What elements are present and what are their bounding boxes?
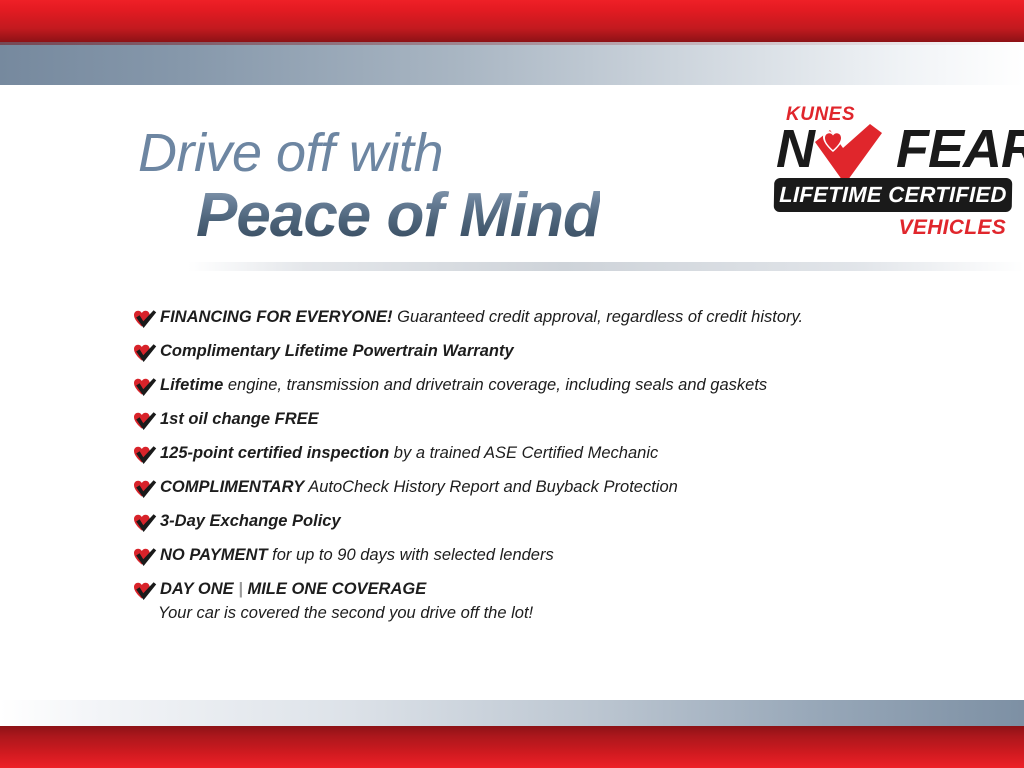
benefit-separator: | — [234, 580, 248, 598]
benefit-body: 125-point certified inspection by a trai… — [158, 442, 658, 464]
benefit-bold-text: DAY ONE — [160, 580, 234, 598]
heart-check-bullet — [132, 512, 158, 534]
heart-check-bullet — [132, 444, 158, 466]
heart-check-bullet-icon — [132, 546, 158, 568]
benefit-body: DAY ONE | MILE ONE COVERAGEYour car is c… — [158, 578, 533, 625]
benefit-body: Complimentary Lifetime Powertrain Warran… — [158, 340, 514, 362]
benefit-item: 125-point certified inspection by a trai… — [132, 442, 932, 466]
heart-check-bullet-icon — [132, 580, 158, 602]
kunes-no-fear-logo: KUNES NOOFEAR LIFETIME CERTIFIED VEHICLE… — [770, 104, 1014, 250]
benefit-regular-text: for up to 90 days with selected lenders — [268, 546, 554, 564]
benefit-bold-text-2: MILE ONE COVERAGE — [247, 580, 426, 598]
benefit-regular-text: Guaranteed credit approval, regardless o… — [393, 308, 804, 326]
benefit-body: NO PAYMENT for up to 90 days with select… — [158, 544, 554, 566]
benefit-bold-text: Complimentary Lifetime Powertrain Warran… — [160, 342, 514, 360]
benefit-regular-text: AutoCheck History Report and Buyback Pro… — [304, 478, 678, 496]
benefit-text: FINANCING FOR EVERYONE! Guaranteed credi… — [158, 306, 803, 328]
bottom-gray-banner — [0, 700, 1024, 726]
heart-check-bullet-icon — [132, 410, 158, 432]
headline-line-1: Drive off with — [138, 126, 600, 181]
logo-certified-bar: LIFETIME CERTIFIED — [774, 178, 1013, 212]
benefit-body: 1st oil change FREE — [158, 408, 319, 430]
benefit-bold-text: COMPLIMENTARY — [160, 478, 304, 496]
logo-word-fear: FEAR — [896, 119, 1024, 179]
benefit-text: 3-Day Exchange Policy — [158, 510, 341, 532]
benefit-item: FINANCING FOR EVERYONE! Guaranteed credi… — [132, 306, 932, 330]
heart-check-bullet — [132, 342, 158, 364]
heart-check-bullet — [132, 580, 158, 602]
headline: Drive off with Peace of Mind — [138, 126, 600, 248]
benefit-item: DAY ONE | MILE ONE COVERAGEYour car is c… — [132, 578, 932, 625]
headline-divider — [188, 262, 1024, 271]
heart-check-bullet-icon — [132, 376, 158, 398]
headline-line-2: Peace of Mind — [196, 183, 600, 248]
benefit-text: 1st oil change FREE — [158, 408, 319, 430]
benefit-bold-text: FINANCING FOR EVERYONE! — [160, 308, 393, 326]
benefits-list: FINANCING FOR EVERYONE! Guaranteed credi… — [132, 306, 932, 635]
logo-certified-text: LIFETIME CERTIFIED — [774, 178, 1013, 212]
heart-check-bullet — [132, 376, 158, 398]
benefit-body: 3-Day Exchange Policy — [158, 510, 341, 532]
heart-check-bullet-icon — [132, 512, 158, 534]
logo-vehicles-text: VEHICLES — [899, 216, 1006, 240]
benefit-text: 125-point certified inspection by a trai… — [158, 442, 658, 464]
benefit-bold-text: Lifetime — [160, 376, 223, 394]
bottom-red-banner — [0, 726, 1024, 768]
benefit-text: DAY ONE | MILE ONE COVERAGE — [158, 578, 533, 600]
benefit-regular-text: by a trained ASE Certified Mechanic — [389, 444, 658, 462]
benefit-bold-text: 1st oil change FREE — [160, 410, 319, 428]
benefit-body: Lifetime engine, transmission and drivet… — [158, 374, 767, 396]
benefit-body: COMPLIMENTARY AutoCheck History Report a… — [158, 476, 678, 498]
benefit-bold-text: 125-point certified inspection — [160, 444, 389, 462]
benefit-regular-text: engine, transmission and drivetrain cove… — [223, 376, 767, 394]
top-gray-banner — [0, 42, 1024, 85]
benefit-text: NO PAYMENT for up to 90 days with select… — [158, 544, 554, 566]
heart-check-bullet — [132, 410, 158, 432]
benefit-text: Complimentary Lifetime Powertrain Warran… — [158, 340, 514, 362]
benefit-text: Lifetime engine, transmission and drivet… — [158, 374, 767, 396]
benefit-item: COMPLIMENTARY AutoCheck History Report a… — [132, 476, 932, 500]
heart-check-bullet — [132, 546, 158, 568]
heart-check-bullet — [132, 308, 158, 330]
logo-letter-n: N — [776, 119, 814, 179]
benefit-bold-text: 3-Day Exchange Policy — [160, 512, 341, 530]
heart-check-bullet-icon — [132, 478, 158, 500]
benefit-item: NO PAYMENT for up to 90 days with select… — [132, 544, 932, 568]
heart-check-bullet-icon — [132, 308, 158, 330]
heart-check-bullet — [132, 478, 158, 500]
heart-check-bullet-icon — [132, 444, 158, 466]
benefit-item: Lifetime engine, transmission and drivet… — [132, 374, 932, 398]
benefit-bold-text: NO PAYMENT — [160, 546, 268, 564]
benefit-item: Complimentary Lifetime Powertrain Warran… — [132, 340, 932, 364]
heart-check-bullet-icon — [132, 342, 158, 364]
benefit-item: 1st oil change FREE — [132, 408, 932, 432]
benefit-item: 3-Day Exchange Policy — [132, 510, 932, 534]
benefit-subtext: Your car is covered the second you drive… — [158, 601, 533, 625]
top-red-banner — [0, 0, 1024, 42]
benefit-body: FINANCING FOR EVERYONE! Guaranteed credi… — [158, 306, 803, 328]
benefit-text: COMPLIMENTARY AutoCheck History Report a… — [158, 476, 678, 498]
